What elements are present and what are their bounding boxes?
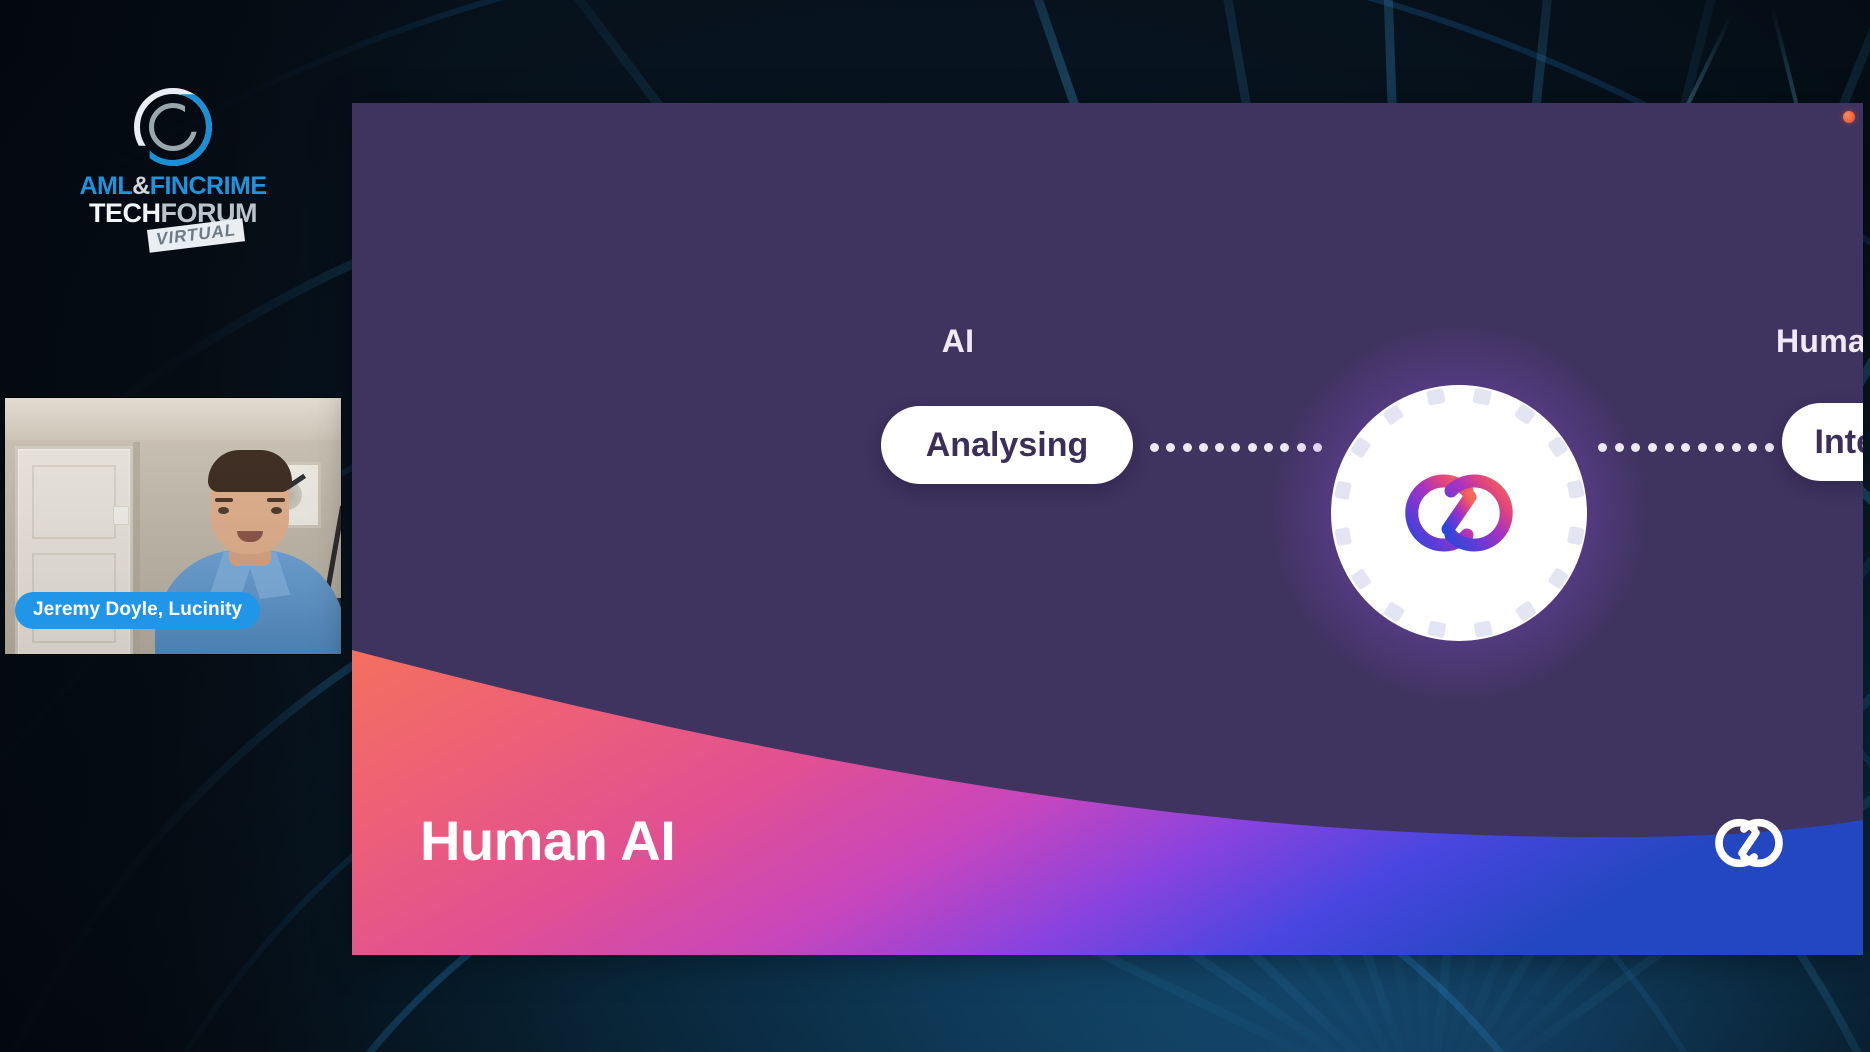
connector-dot <box>1166 443 1175 452</box>
lucinity-infinity-logo-icon <box>1374 463 1544 563</box>
connector-dot <box>1248 443 1257 452</box>
forum-ring-icon <box>134 88 212 166</box>
connector-dot <box>1150 443 1159 452</box>
pill-interpreting-label: Interpreting <box>1815 423 1863 462</box>
hub-ring-dash <box>1566 526 1584 546</box>
pill-analysing: Analysing <box>881 406 1133 484</box>
connector-dot <box>1765 443 1774 452</box>
event-logo-tech: TECH <box>89 198 161 228</box>
event-logo-line-2: TECHFORUM <box>58 199 288 227</box>
slide-brand-infinity-icon <box>1695 811 1803 875</box>
webinar-screen: AML&FINCRIME TECHFORUM VIRTUAL <box>0 0 1870 1052</box>
connector-dot <box>1264 443 1273 452</box>
event-logo-ampersand: & <box>132 172 150 200</box>
connector-dot <box>1199 443 1208 452</box>
connector-dot <box>1698 443 1707 452</box>
connector-dot <box>1183 443 1192 452</box>
speaker-figure <box>155 494 341 654</box>
connector-dot <box>1681 443 1690 452</box>
connector-dot <box>1231 443 1240 452</box>
event-logo-fincrime: FINCRIME <box>150 172 267 200</box>
label-humans: Humans <box>1720 323 1863 360</box>
pill-interpreting: Interpreting <box>1782 403 1863 481</box>
shared-slide[interactable]: AI Humans Analysing <box>352 103 1863 955</box>
recording-dot-icon <box>1843 111 1855 123</box>
event-logo: AML&FINCRIME TECHFORUM VIRTUAL <box>58 88 288 248</box>
slide-wave-banner <box>352 555 1863 955</box>
connector-dot <box>1615 443 1624 452</box>
speaker-name-badge: Jeremy Doyle, Lucinity <box>15 592 260 629</box>
pill-analysing-label: Analysing <box>926 426 1088 465</box>
slide-title: Human AI <box>420 808 675 873</box>
connector-dot <box>1748 443 1757 452</box>
connector-dot <box>1715 443 1724 452</box>
event-logo-line-1: AML&FINCRIME <box>58 174 288 199</box>
connector-dot <box>1648 443 1657 452</box>
event-logo-aml: AML <box>79 172 132 200</box>
connector-dot <box>1215 443 1224 452</box>
connector-dot <box>1732 443 1741 452</box>
connector-dot <box>1598 443 1607 452</box>
speaker-video-tile[interactable]: Jeremy Doyle, Lucinity <box>5 398 341 654</box>
connector-dot <box>1665 443 1674 452</box>
label-ai: AI <box>898 323 1018 360</box>
connector-dot <box>1631 443 1640 452</box>
connector-dots-right <box>1598 441 1774 453</box>
